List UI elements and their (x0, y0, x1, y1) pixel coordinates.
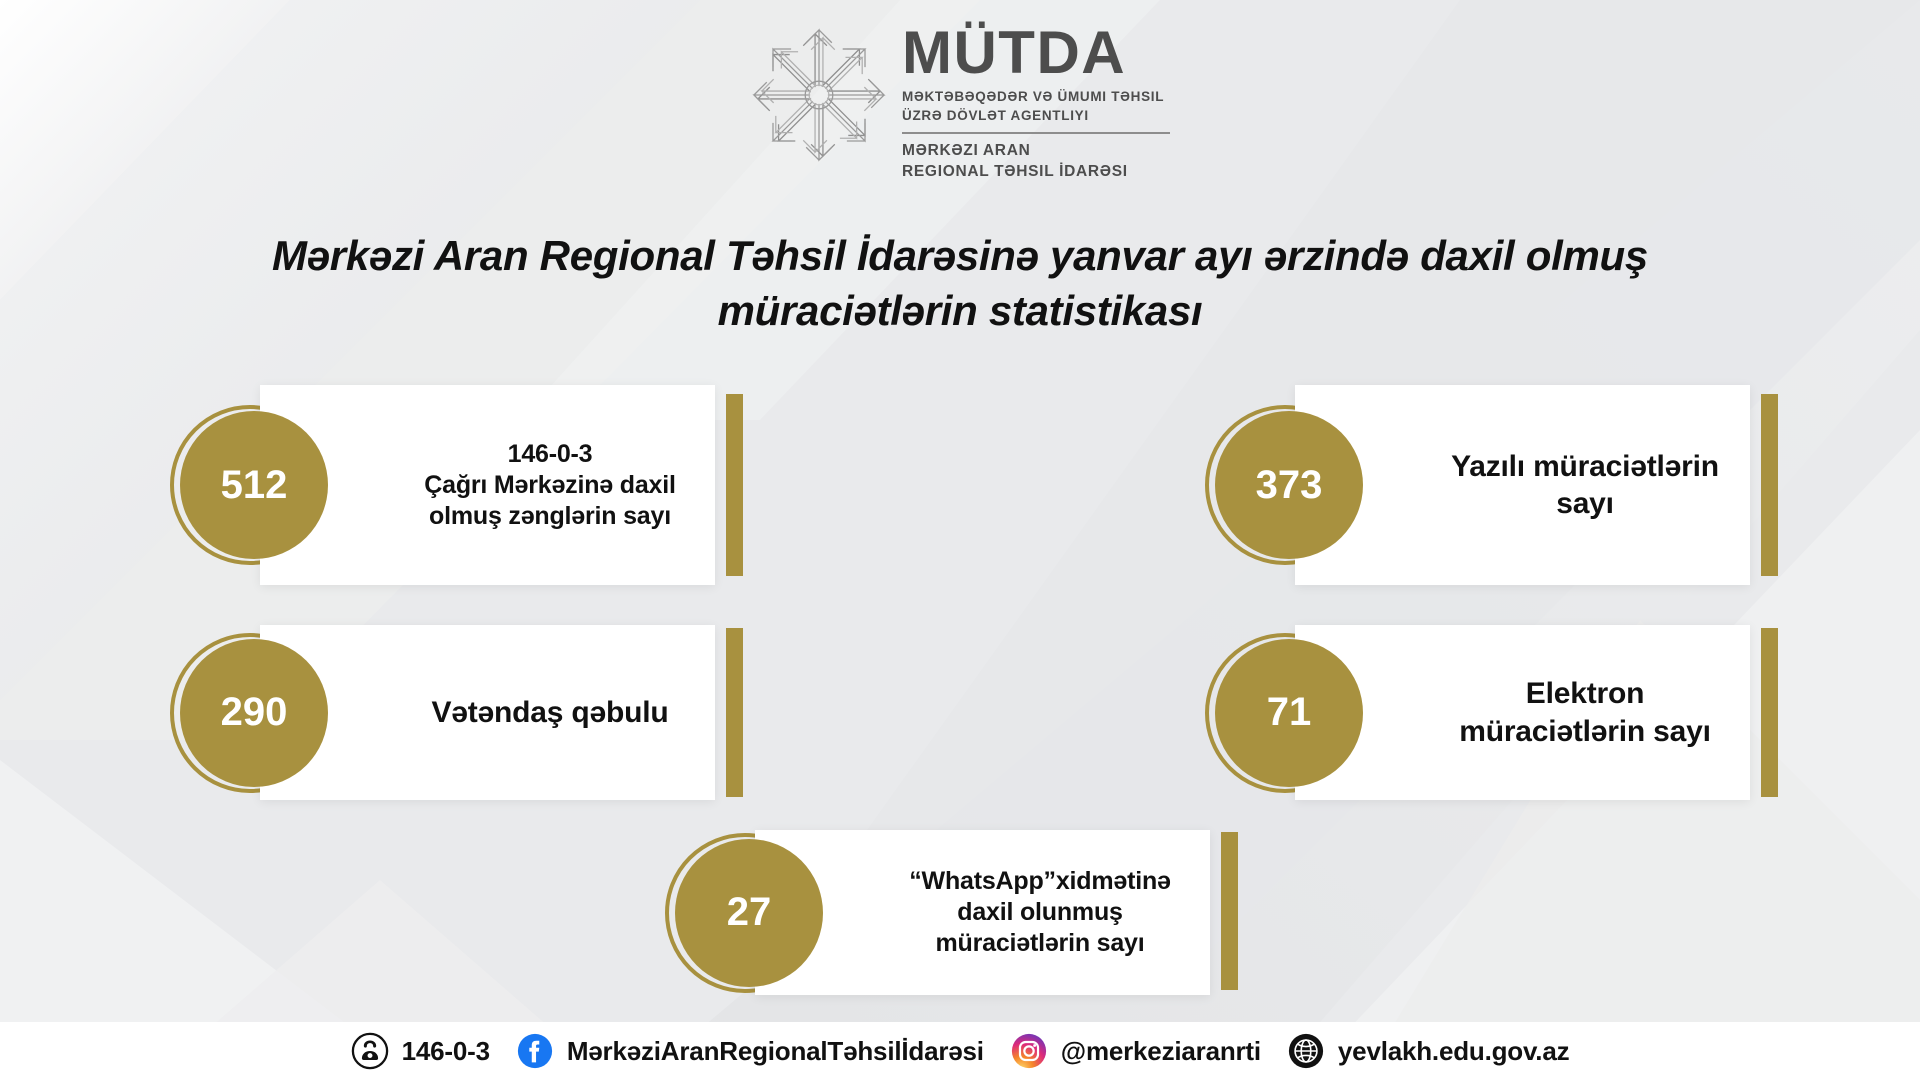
contact-instagram-text: @merkeziaranrti (1061, 1036, 1261, 1067)
stat-label-line2: müraciətlərin sayı (1405, 713, 1765, 750)
stat-value-badge: 71 (1215, 639, 1363, 787)
stat-label: Elektron müraciətlərin sayı (1405, 675, 1765, 749)
page-title: Mərkəzi Aran Regional Təhsil İdarəsinə y… (0, 228, 1920, 339)
contact-footer: 146-0-3 MərkəziAranRegionalTəhsilİdarəsi (0, 1022, 1920, 1080)
contact-facebook-text: MərkəziAranRegionalTəhsilİdarəsi (567, 1036, 984, 1067)
contact-facebook[interactable]: MərkəziAranRegionalTəhsilİdarəsi (516, 1032, 984, 1070)
stat-label-line1: Elektron (1405, 675, 1765, 712)
stat-label-line2: sayı (1405, 485, 1765, 522)
logo-lockup: MÜTDA MƏKTƏBƏQƏDƏR VƏ ÜMUMI TƏHSIL ÜZRƏ … (750, 14, 1170, 183)
mutda-snowflake-logo (750, 14, 888, 176)
stat-card-electron: 71 Elektron müraciətlərin sayı (1205, 625, 1750, 800)
stat-card-citizen: 290 Vətəndaş qəbulu (170, 625, 715, 800)
stat-label: “WhatsApp”xidmətinə daxil olunmuş müraci… (855, 866, 1225, 959)
logo-department-line1: MƏRKƏZI ARAN (902, 140, 1170, 161)
brand-header: MÜTDA MƏKTƏBƏQƏDƏR VƏ ÜMUMI TƏHSIL ÜZRƏ … (0, 14, 1920, 183)
stat-label-line1: “WhatsApp”xidmətinə (855, 866, 1225, 897)
stat-label-line3: müraciətlərin sayı (855, 928, 1225, 959)
stat-value-badge: 512 (180, 411, 328, 559)
facebook-icon (516, 1032, 554, 1070)
stat-label: Yazılı müraciətlərin sayı (1405, 448, 1765, 522)
stat-label: Vətəndaş qəbulu (370, 694, 730, 731)
stat-label-line2: daxil olunmuş (855, 897, 1225, 928)
stat-card-calls: 512 146-0-3 Çağrı Mərkəzinə daxil olmuş … (170, 385, 715, 585)
logo-divider (902, 132, 1170, 134)
contact-phone[interactable]: 146-0-3 (351, 1032, 490, 1070)
instagram-icon (1010, 1032, 1048, 1070)
logo-acronym: MÜTDA (902, 24, 1170, 81)
logo-subtitle-line2: ÜZRƏ DÖVLƏT AGENTLIYI (902, 107, 1170, 126)
stat-value-badge: 27 (675, 839, 823, 987)
logo-subtitle-line1: MƏKTƏBƏQƏDƏR VƏ ÜMUMI TƏHSIL (902, 88, 1170, 107)
stat-value-badge: 373 (1215, 411, 1363, 559)
stat-label-line2: Çağrı Mərkəzinə daxil (370, 470, 730, 501)
stat-label-line3: olmuş zənglərin sayı (370, 501, 730, 532)
stat-card-whatsapp: 27 “WhatsApp”xidmətinə daxil olunmuş mür… (665, 830, 1210, 995)
contact-website[interactable]: yevlakh.edu.gov.az (1287, 1032, 1569, 1070)
stat-card-written: 373 Yazılı müraciətlərin sayı (1205, 385, 1750, 585)
contact-phone-text: 146-0-3 (402, 1036, 490, 1067)
stat-label-line1: 146-0-3 (370, 439, 730, 470)
stat-label-line1: Vətəndaş qəbulu (370, 694, 730, 731)
stat-label: 146-0-3 Çağrı Mərkəzinə daxil olmuş zəng… (370, 439, 730, 532)
contact-website-text: yevlakh.edu.gov.az (1338, 1036, 1569, 1067)
logo-department-line2: REGIONAL TƏHSIL İDARƏSI (902, 161, 1170, 182)
telephone-icon (351, 1032, 389, 1070)
contact-instagram[interactable]: @merkeziaranrti (1010, 1032, 1261, 1070)
stat-label-line1: Yazılı müraciətlərin (1405, 448, 1765, 485)
globe-icon (1287, 1032, 1325, 1070)
logo-text-block: MÜTDA MƏKTƏBƏQƏDƏR VƏ ÜMUMI TƏHSIL ÜZRƏ … (902, 14, 1170, 183)
stat-value-badge: 290 (180, 639, 328, 787)
